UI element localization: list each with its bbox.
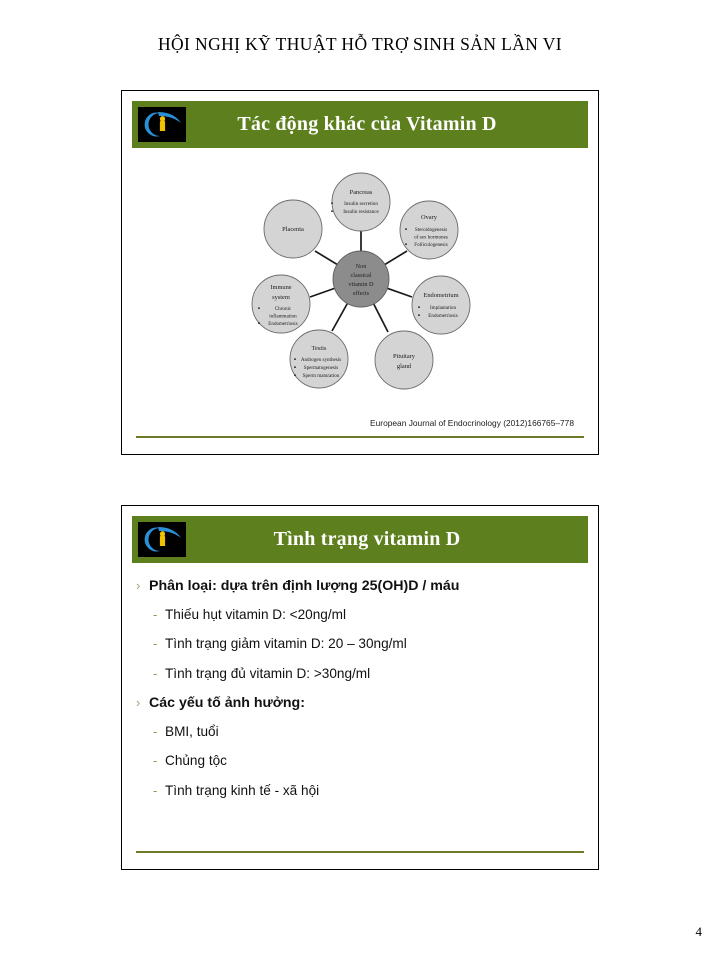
diagram-node-testis: Testis Androgen synthesis Spermatogenesi… — [290, 330, 348, 388]
dash-marker-icon: - — [153, 783, 165, 798]
node-title-immune-2: system — [272, 294, 290, 301]
non-classical-vitamin-d-effects-diagram: Pancreas Insulin secretion Insulin resis… — [122, 153, 600, 418]
slide2-banner: Tình trạng vitamin D — [132, 516, 588, 563]
node-bullet: Steroidogenesis — [415, 227, 447, 233]
node-bullet: Insulin secretion — [344, 201, 378, 207]
slide2-content-list: › Phân loại: dựa trên định lượng 25(OH)D… — [136, 578, 584, 812]
node-bullet: Androgen synthesis — [301, 357, 341, 363]
conference-logo — [138, 522, 186, 557]
slide1-banner: Tác động khác của Vitamin D — [132, 101, 588, 148]
node-bullet: Chronic — [275, 306, 292, 312]
diagram-node-ovary: Ovary Steroidogenesis of sex hormones Fo… — [400, 201, 458, 259]
slide2-title: Tình trạng vitamin D — [186, 528, 588, 551]
diagram-node-immune-system: Immune system Chronic inflammation Endom… — [252, 275, 310, 333]
node-title-testis: Testis — [312, 345, 327, 352]
dash-marker-icon: - — [153, 607, 165, 622]
list-item-label: Tình trạng kinh tế - xã hội — [165, 783, 319, 799]
diagram-hub: Non classical vitamin D effects — [333, 251, 389, 307]
node-bullet: Implantation — [430, 305, 456, 311]
node-bullet: Insulin resistance — [343, 209, 379, 215]
conference-logo — [138, 107, 186, 142]
slide-vitamin-d-status: Tình trạng vitamin D › Phân loại: dựa tr… — [121, 505, 599, 870]
diagram-node-pancreas: Pancreas Insulin secretion Insulin resis… — [331, 173, 390, 231]
hub-line-2: classical — [351, 272, 372, 279]
list-item-label: BMI, tuổi — [165, 724, 219, 740]
list-item-label: Chủng tộc — [165, 753, 227, 769]
node-bullet: Endometriosis — [268, 321, 297, 327]
list-item: - BMI, tuổi — [136, 724, 584, 740]
node-bullet: of sex hormones — [414, 234, 448, 241]
hub-line-1: Non — [356, 263, 367, 270]
diagram-node-placenta: Placenta — [264, 200, 322, 258]
list-item: - Thiếu hụt vitamin D: <20ng/ml — [136, 607, 584, 623]
page-number: 4 — [696, 924, 703, 940]
list-item-label: Các yếu tố ảnh hưởng: — [149, 695, 305, 712]
node-bullet: Sperm maturation — [303, 373, 340, 379]
list-item: › Phân loại: dựa trên định lượng 25(OH)D… — [136, 578, 584, 595]
list-item-label: Phân loại: dựa trên định lượng 25(OH)D /… — [149, 578, 459, 595]
dash-marker-icon: - — [153, 636, 165, 651]
list-item: › Các yếu tố ảnh hưởng: — [136, 695, 584, 712]
node-bullet: Folliculogenesis — [414, 242, 447, 248]
hub-line-3: vitamin D — [349, 281, 374, 288]
list-item-label: Thiếu hụt vitamin D: <20ng/ml — [165, 607, 346, 623]
node-title-ovary: Ovary — [421, 214, 438, 221]
slide1-bottom-rule — [136, 436, 584, 438]
node-bullet: Endometriosis — [428, 313, 457, 319]
bullet-marker-icon: › — [136, 695, 149, 710]
hub-line-4: effects — [353, 290, 370, 297]
slide-vitamin-d-effects: Tác động khác của Vitamin D Pancreas Ins… — [121, 90, 599, 455]
dash-marker-icon: - — [153, 753, 165, 768]
list-item: - Tình trạng đủ vitamin D: >30ng/ml — [136, 666, 584, 682]
dash-marker-icon: - — [153, 666, 165, 681]
list-item-label: Tình trạng đủ vitamin D: >30ng/ml — [165, 666, 370, 682]
node-title-endometrium: Endometrium — [423, 292, 458, 299]
slide1-citation: European Journal of Endocrinology (2012)… — [122, 418, 574, 428]
node-title-pituitary: Pituitary — [393, 353, 416, 360]
node-title-placenta: Placenta — [282, 226, 304, 233]
slide2-bottom-rule — [136, 851, 584, 853]
node-title-pancreas: Pancreas — [350, 189, 373, 196]
node-title-immune: Immune — [270, 284, 291, 291]
diagram-node-pituitary-gland: Pituitary gland — [375, 331, 433, 389]
list-item: - Chủng tộc — [136, 753, 584, 769]
dash-marker-icon: - — [153, 724, 165, 739]
diagram-node-endometrium: Endometrium Implantation Endometriosis — [412, 276, 470, 334]
list-item: - Tình trạng kinh tế - xã hội — [136, 783, 584, 799]
node-bullet: inflammation — [269, 313, 297, 320]
slide1-title: Tác động khác của Vitamin D — [186, 113, 588, 136]
node-bullet: Spermatogenesis — [304, 365, 339, 371]
list-item: - Tình trạng giảm vitamin D: 20 – 30ng/m… — [136, 636, 584, 652]
node-title-pituitary-2: gland — [397, 363, 412, 370]
page-header-title: HỘI NGHỊ KỸ THUẬT HỖ TRỢ SINH SẢN LẦN VI — [0, 34, 720, 55]
list-item-label: Tình trạng giảm vitamin D: 20 – 30ng/ml — [165, 636, 407, 652]
bullet-marker-icon: › — [136, 578, 149, 593]
